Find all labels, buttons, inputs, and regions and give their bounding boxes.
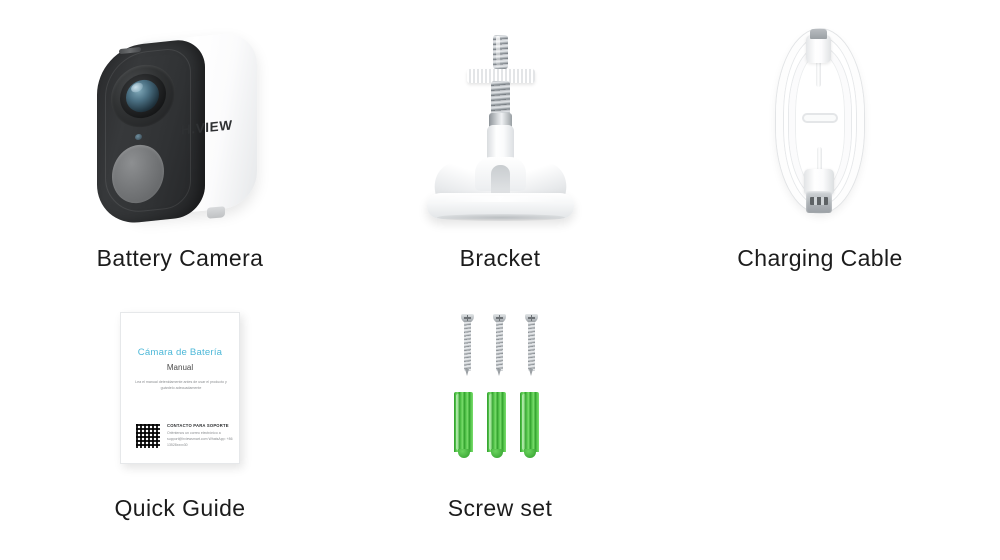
cable-tie-strap: [802, 113, 838, 123]
screw-threaded-shaft: [528, 322, 535, 371]
manual-contact-heading: CONTACTO PARA SOPORTE: [167, 423, 233, 428]
bracket-upper-thread-highlight: [496, 36, 500, 68]
product-item-bracket: Bracket: [355, 18, 645, 272]
screw-set-illustration: [355, 300, 645, 475]
wall-anchor: [454, 392, 473, 458]
product-item-charging-cable: Charging Cable: [670, 18, 970, 272]
product-label-screw-set: Screw set: [448, 495, 553, 522]
product-label-quick-guide: Quick Guide: [115, 495, 246, 522]
wall-anchor-tip: [491, 449, 503, 458]
camera-mount-foot: [207, 206, 225, 219]
charging-cable-illustration: [670, 18, 970, 223]
screw-tip: [529, 369, 533, 376]
wall-anchor-highlight: [522, 394, 526, 450]
screw-phillips-slot-horizontal: [496, 317, 503, 319]
bracket-icon: [415, 21, 585, 221]
cable-usb-a-contacts: [810, 197, 828, 205]
cable-micro-usb-housing: [806, 35, 831, 63]
manual-body-text: Lea el manual detenidamente antes de usa…: [133, 379, 229, 391]
cable-micro-usb-tip: [810, 29, 827, 39]
manual-cover-page: Cámara de Batería Manual Lea el manual d…: [120, 312, 240, 464]
screw-threaded-shaft: [496, 322, 503, 371]
wall-anchor-tip: [458, 449, 470, 458]
quick-guide-icon: Cámara de Batería Manual Lea el manual d…: [114, 308, 246, 468]
screw-tip: [465, 369, 469, 376]
screw: [493, 314, 506, 376]
wall-anchor-tip: [524, 449, 536, 458]
bracket-drop-shadow: [437, 214, 565, 221]
wall-anchor: [487, 392, 506, 458]
screw-threaded-shaft: [464, 322, 471, 371]
product-item-battery-camera: H.VIEW Battery Camera: [30, 18, 330, 272]
screw-tip: [497, 369, 501, 376]
screw-phillips-slot-horizontal: [464, 317, 471, 319]
bracket-illustration: [355, 18, 645, 223]
quick-guide-illustration: Cámara de Batería Manual Lea el manual d…: [30, 300, 330, 475]
qr-code-icon: [135, 423, 161, 449]
battery-camera-icon: H.VIEW: [85, 21, 275, 221]
screw: [525, 314, 538, 376]
screw: [461, 314, 474, 376]
manual-contact-block: CONTACTO PARA SOPORTE Oriéntenos un corr…: [167, 423, 233, 449]
manual-subtitle: Manual: [121, 363, 239, 372]
battery-camera-illustration: H.VIEW: [30, 18, 330, 223]
wall-anchor-highlight: [489, 394, 493, 450]
screw-phillips-slot-horizontal: [528, 317, 535, 319]
manual-contact-lines: Oriéntenos un correo electrónico a suppo…: [167, 430, 233, 449]
charging-cable-icon: [750, 21, 890, 221]
package-contents-figure: H.VIEW Battery Camera: [0, 0, 1000, 560]
product-label-battery-camera: Battery Camera: [97, 245, 264, 272]
bracket-base-highlight: [441, 196, 559, 202]
camera-microphone-dot: [135, 133, 142, 140]
product-item-screw-set: Screw set: [355, 300, 645, 522]
product-label-bracket: Bracket: [460, 245, 541, 272]
wall-anchor-highlight: [456, 394, 460, 450]
screw-set-icon: [445, 308, 555, 468]
bracket-lower-thread: [491, 81, 510, 115]
product-item-quick-guide: Cámara de Batería Manual Lea el manual d…: [30, 300, 330, 522]
product-label-charging-cable: Charging Cable: [737, 245, 902, 272]
manual-title: Cámara de Batería: [121, 347, 239, 358]
wall-anchor: [520, 392, 539, 458]
